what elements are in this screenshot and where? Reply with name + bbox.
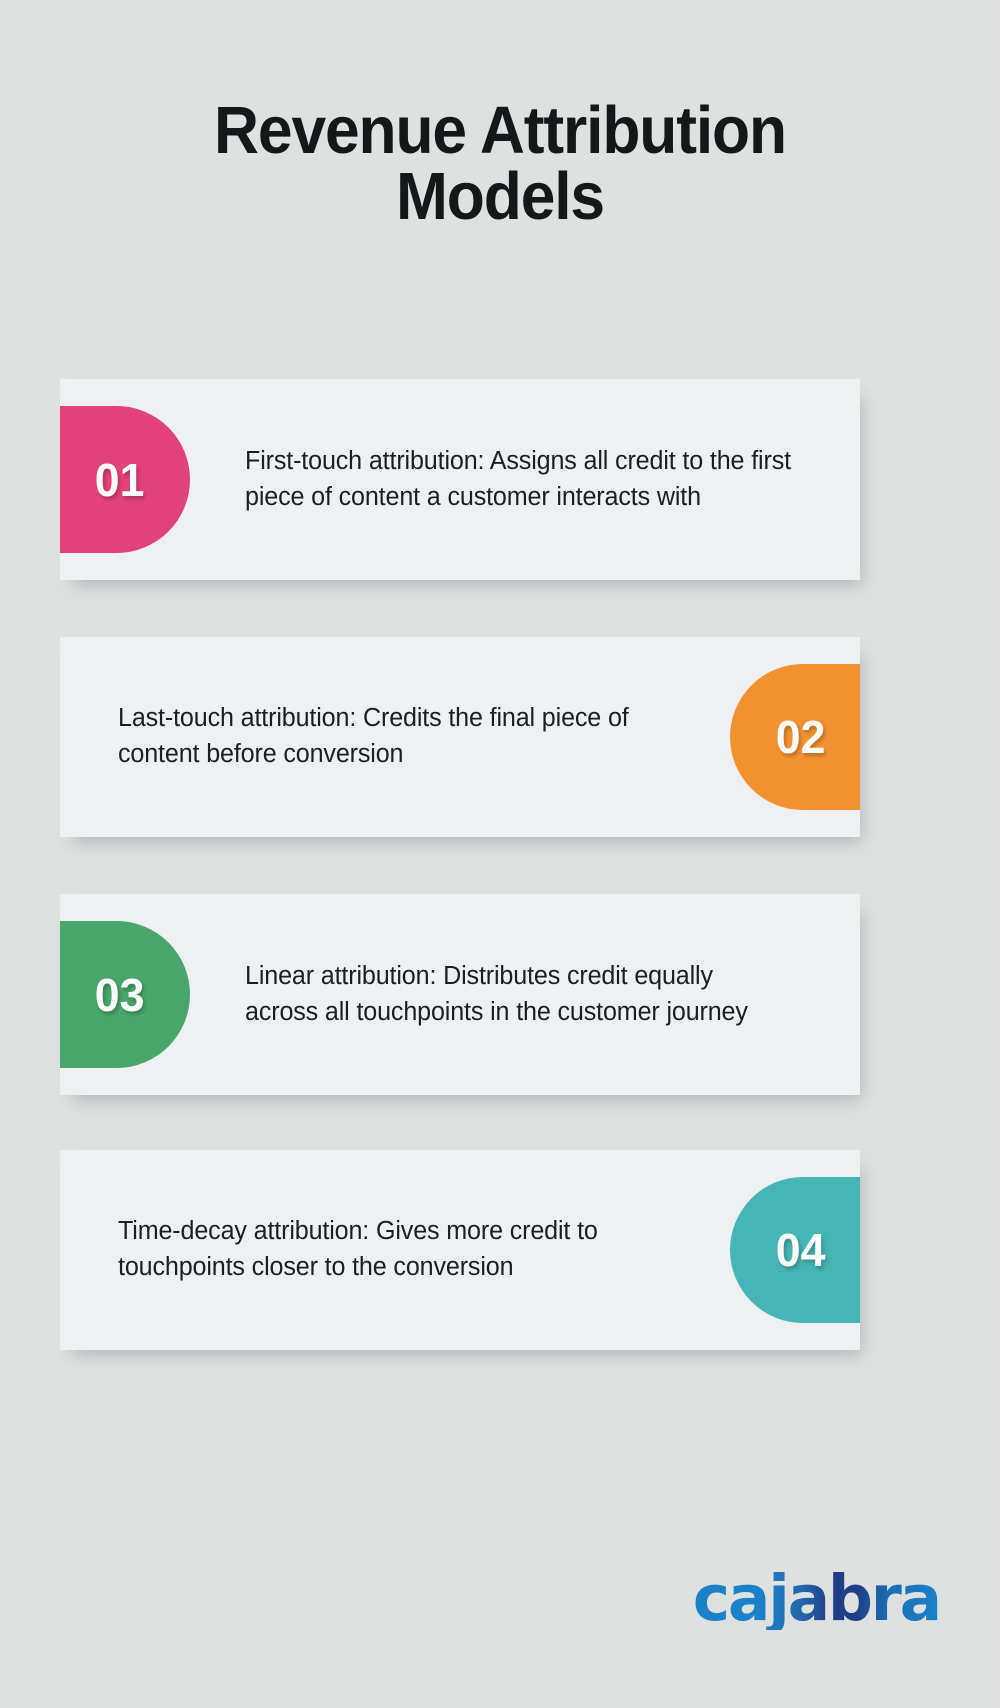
list-item[interactable]: 04 Time-decay attribution: Gives more cr… <box>60 1150 860 1350</box>
number-badge-04: 04 <box>730 1177 860 1323</box>
list-item[interactable]: 01 First-touch attribution: Assigns all … <box>60 379 860 580</box>
number-badge-03: 03 <box>60 921 190 1068</box>
number-badge-01: 01 <box>60 406 190 553</box>
badge-number-text: 02 <box>776 710 826 764</box>
infographic-page: Revenue Attribution Models 01 First-touc… <box>0 0 1000 1708</box>
card-description-text: Linear attribution: Distributes credit e… <box>245 959 792 1030</box>
badge-number-text: 01 <box>95 453 145 507</box>
brand-logo: cajabra <box>693 1567 940 1630</box>
card-description: Linear attribution: Distributes credit e… <box>190 894 860 1095</box>
card-description-text: Last-touch attribution: Credits the fina… <box>118 701 681 772</box>
card-description-text: Time-decay attribution: Gives more credi… <box>118 1214 681 1285</box>
card-description: Time-decay attribution: Gives more credi… <box>60 1150 730 1350</box>
card-description: Last-touch attribution: Credits the fina… <box>60 637 730 837</box>
list-item[interactable]: 03 Linear attribution: Distributes credi… <box>60 894 860 1095</box>
page-title: Revenue Attribution Models <box>0 98 1000 231</box>
number-badge-02: 02 <box>730 664 860 810</box>
list-item[interactable]: 02 Last-touch attribution: Credits the f… <box>60 637 860 837</box>
badge-number-text: 04 <box>776 1223 826 1277</box>
card-description-text: First-touch attribution: Assigns all cre… <box>245 444 792 515</box>
card-description: First-touch attribution: Assigns all cre… <box>190 379 860 580</box>
badge-number-text: 03 <box>95 968 145 1022</box>
page-title-text: Revenue Attribution Models <box>128 98 872 231</box>
